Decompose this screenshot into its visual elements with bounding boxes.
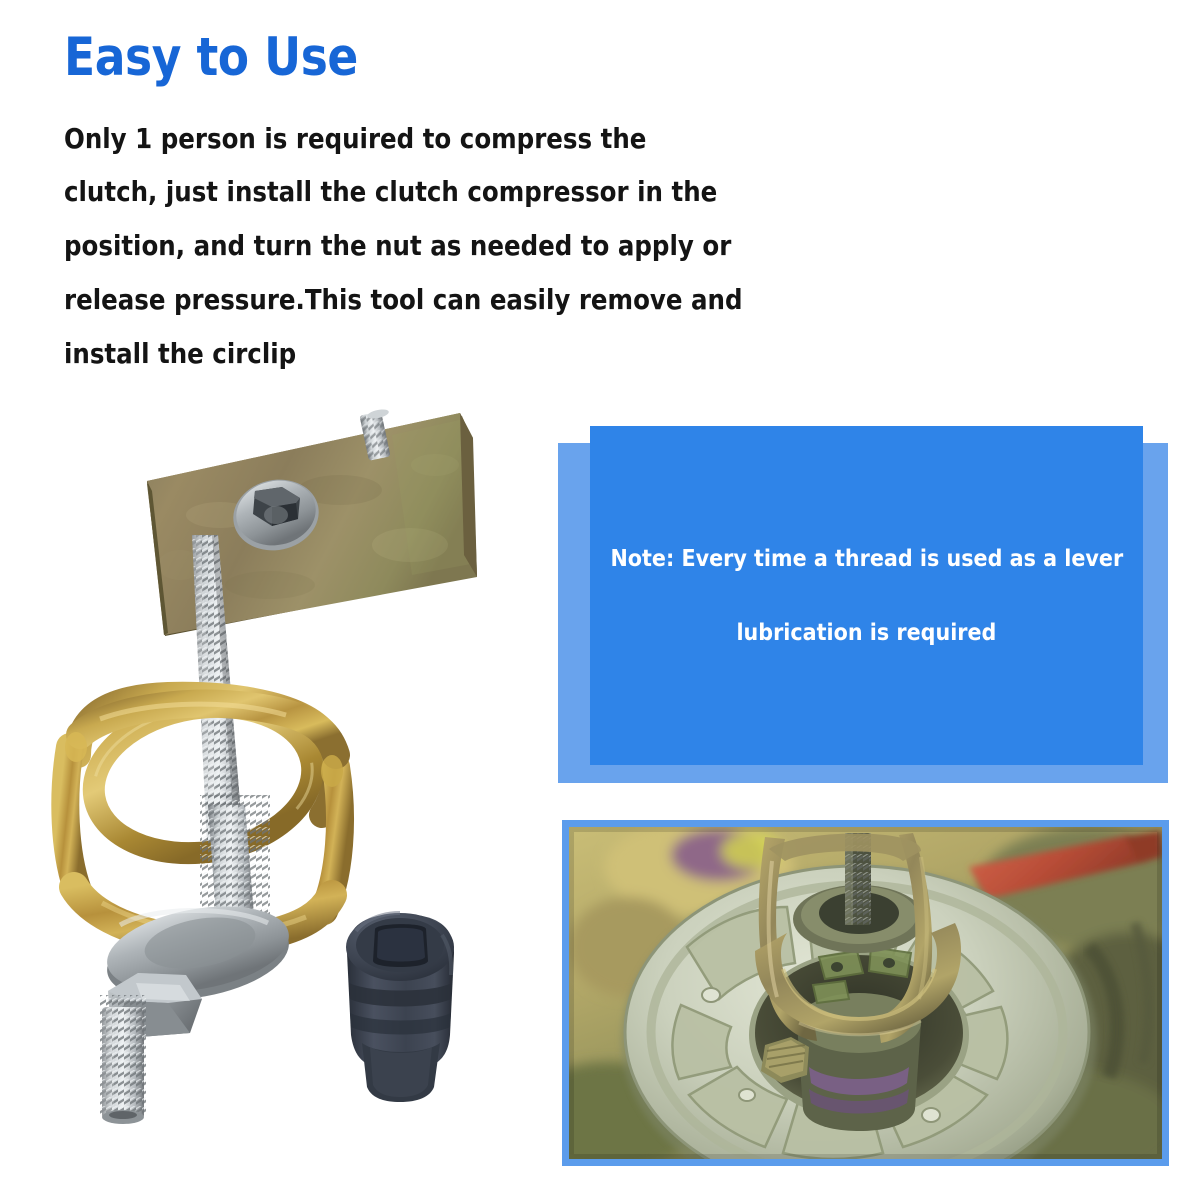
threaded-rod-bottom: [95, 995, 155, 1125]
inuse-photo-frame: [562, 820, 1169, 1166]
inuse-illustration: [569, 827, 1162, 1159]
heading-block: Easy to Use Only 1 person is required to…: [64, 30, 764, 380]
product-photo: [40, 395, 540, 1125]
note-line-1: Note: Every time a thread is used as a l…: [610, 546, 1123, 572]
threaded-rod-middle: [200, 795, 270, 925]
product-illustration: [40, 395, 540, 1125]
inuse-photo: [569, 827, 1162, 1159]
socket-adapter: [346, 913, 454, 1102]
body-paragraph: Only 1 person is required to compress th…: [64, 112, 747, 381]
page-title: Easy to Use: [64, 30, 666, 86]
note-text-wrap: Note: Every time a thread is used as a l…: [590, 426, 1143, 765]
note-line-2: lubrication is required: [737, 620, 997, 646]
infographic-page: Easy to Use Only 1 person is required to…: [0, 0, 1200, 1200]
note-callout: Note: Every time a thread is used as a l…: [558, 426, 1170, 784]
